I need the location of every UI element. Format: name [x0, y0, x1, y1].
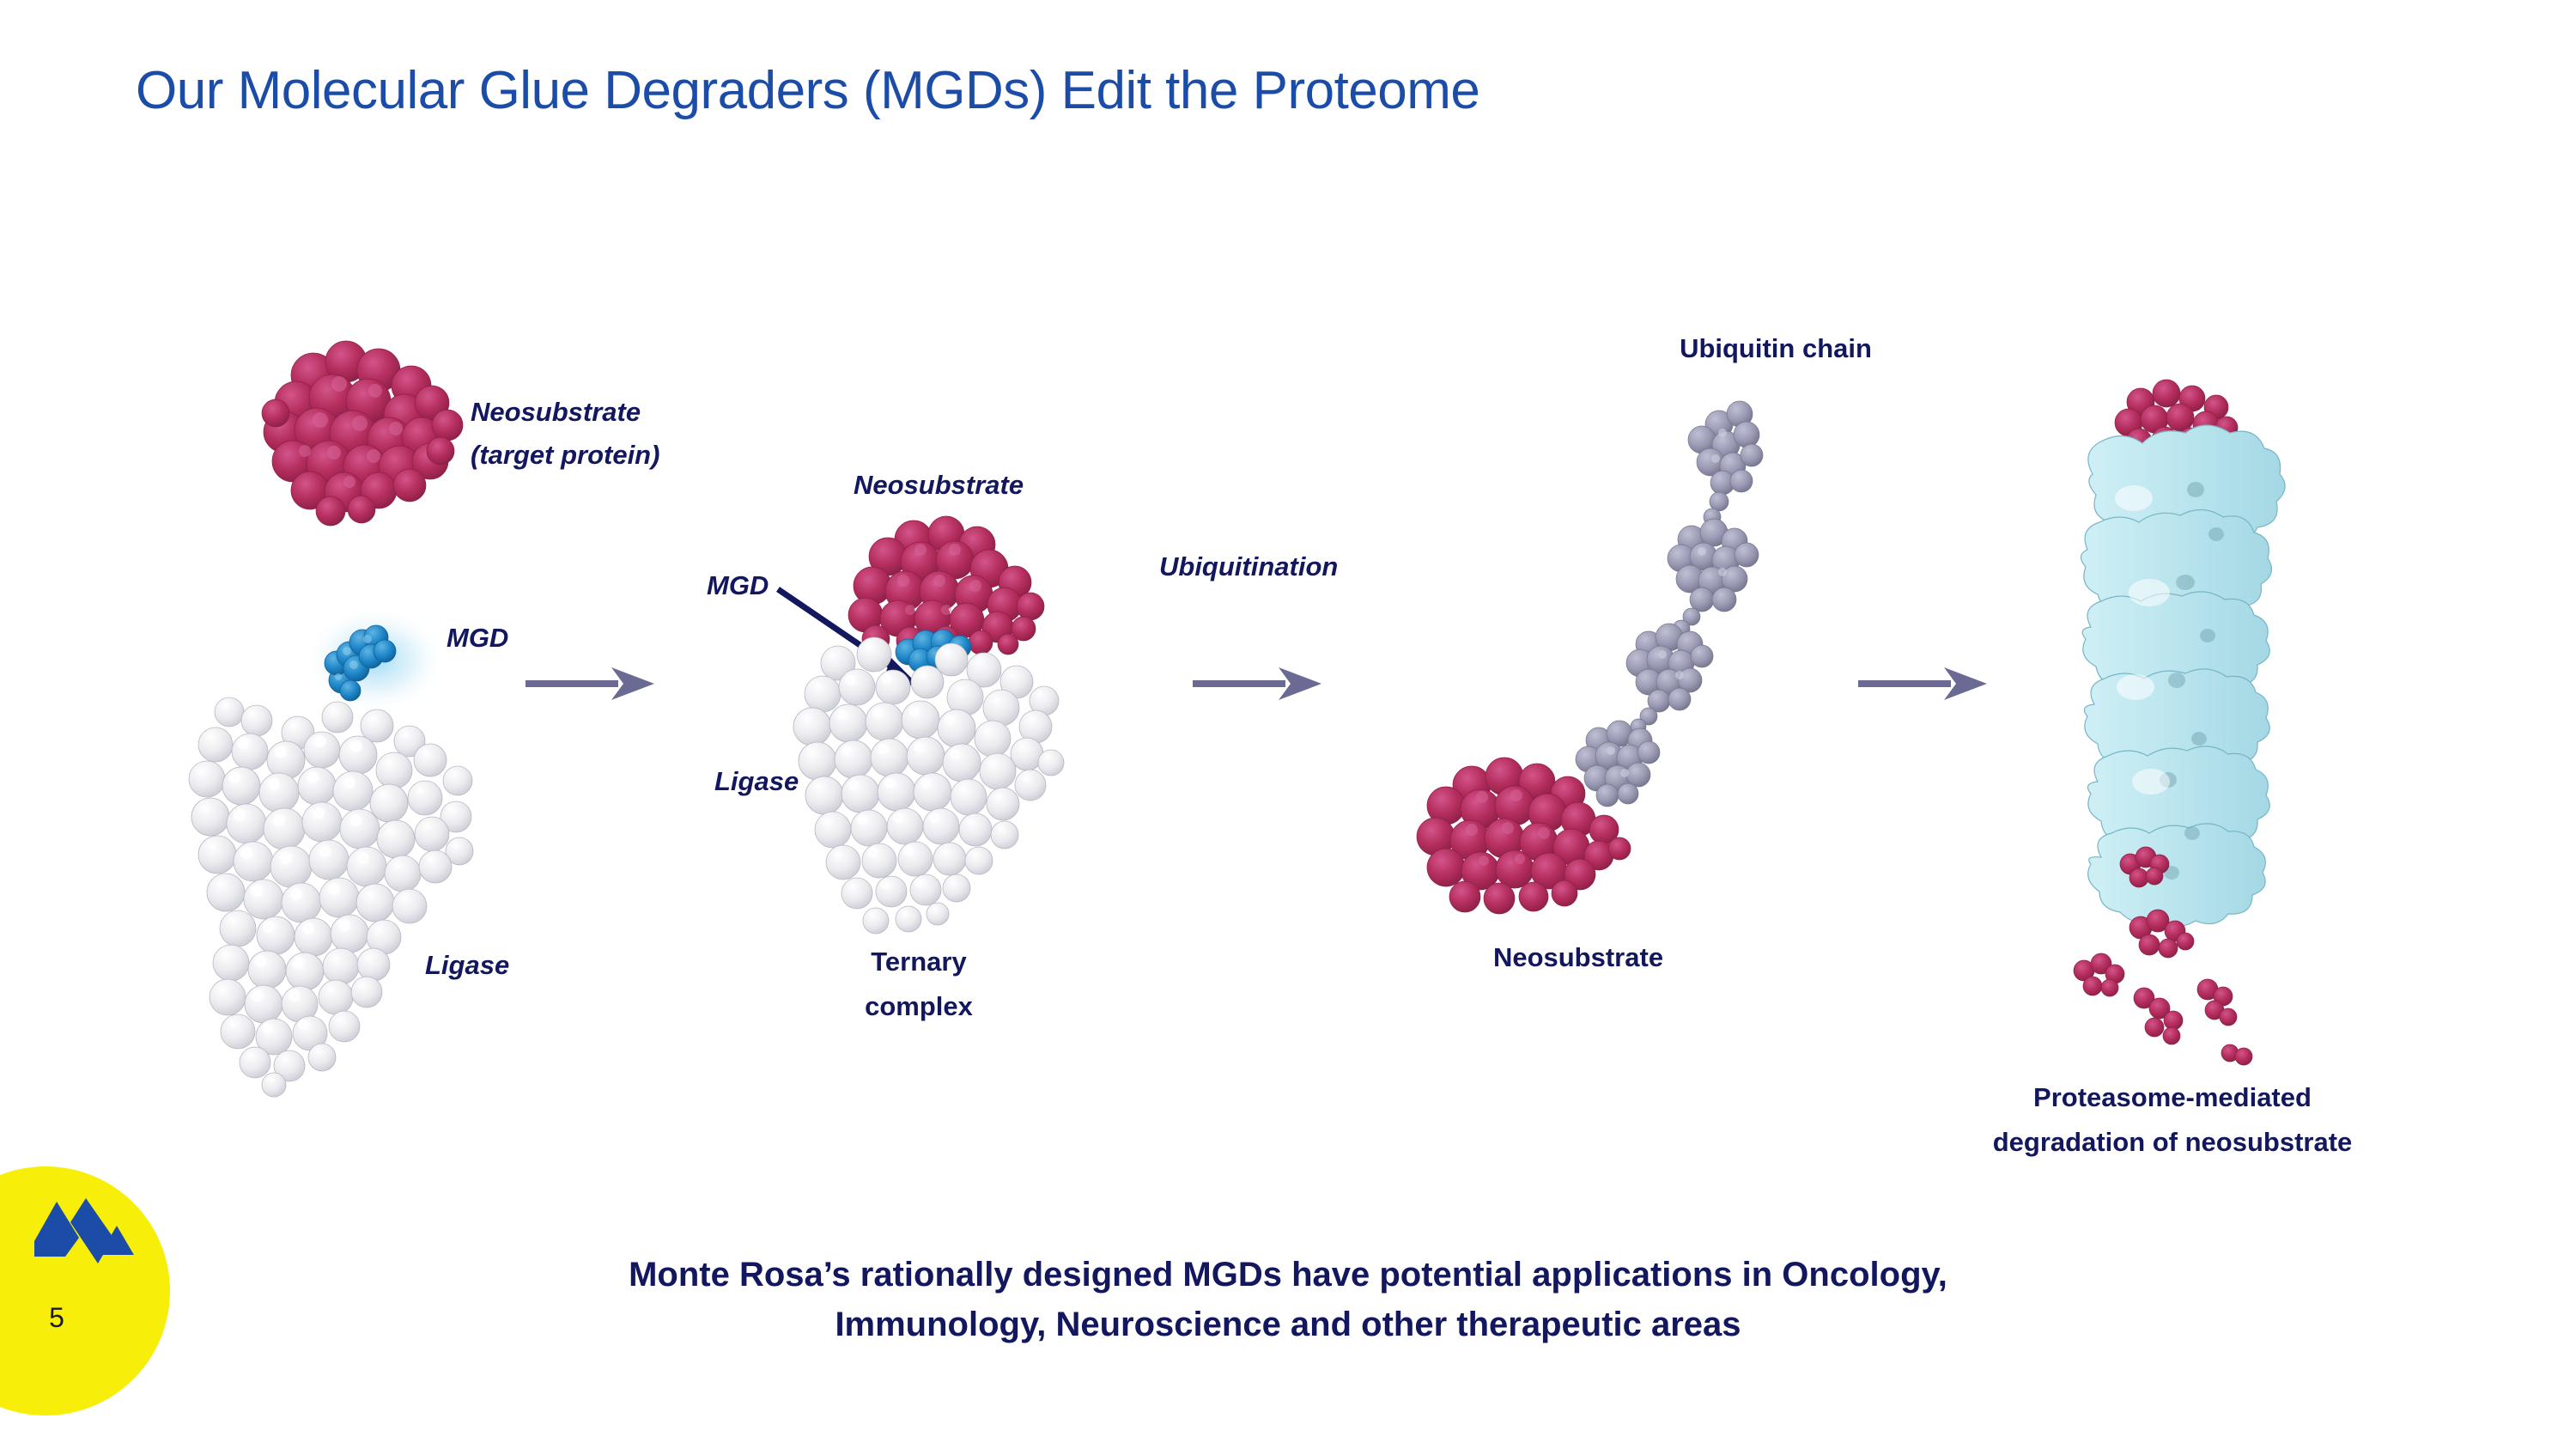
label-ternary-complex-line2: complex — [865, 989, 973, 1024]
label-neosubstrate-ternary: Neosubstrate — [854, 468, 1024, 502]
page-number: 5 — [31, 1302, 82, 1334]
label-ligase-ternary: Ligase — [714, 764, 799, 799]
label-neosubstrate-target-sub: (target protein) — [471, 438, 659, 472]
label-ligase-free: Ligase — [425, 948, 509, 983]
label-proteasome-line2: degradation of neosubstrate — [1993, 1125, 2353, 1160]
proteasome-molecule — [2039, 378, 2400, 1065]
label-neosubstrate-target: Neosubstrate — [471, 395, 641, 429]
neosubstrate-molecule-free — [253, 331, 485, 528]
label-mgd-free: MGD — [447, 621, 508, 655]
label-neosubstrate-ubiquitinated: Neosubstrate — [1493, 941, 1663, 975]
label-ternary-complex-line1: Ternary — [871, 945, 966, 979]
label-mgd-ternary: MGD — [707, 569, 769, 603]
monte-rosa-logo-icon — [31, 1196, 134, 1265]
slide-caption: Monte Rosa’s rationally designed MGDs ha… — [301, 1250, 2275, 1349]
process-arrow-1 — [522, 660, 659, 712]
process-arrow-2 — [1189, 660, 1327, 712]
label-proteasome-line1: Proteasome-mediated — [2033, 1081, 2312, 1115]
process-arrow-3 — [1855, 660, 1992, 712]
ligase-molecule-free — [185, 691, 485, 1095]
caption-line-1: Monte Rosa’s rationally designed MGDs ha… — [301, 1250, 2275, 1300]
page-title: Our Molecular Glue Degraders (MGDs) Edit… — [136, 60, 1479, 121]
label-ubiquitin-chain: Ubiquitin chain — [1680, 332, 1872, 366]
ubiquitin-chain-molecule — [1477, 387, 1769, 807]
caption-line-2: Immunology, Neuroscience and other thera… — [301, 1300, 2275, 1349]
label-ubiquitination: Ubiquitination — [1159, 550, 1338, 584]
neosubstrate-molecule-ubiquitinated — [1408, 756, 1640, 919]
logo-badge: 5 — [0, 1166, 170, 1416]
slide-canvas: Our Molecular Glue Degraders (MGDs) Edit… — [0, 0, 2576, 1449]
ternary-ligase-part — [788, 634, 1072, 952]
